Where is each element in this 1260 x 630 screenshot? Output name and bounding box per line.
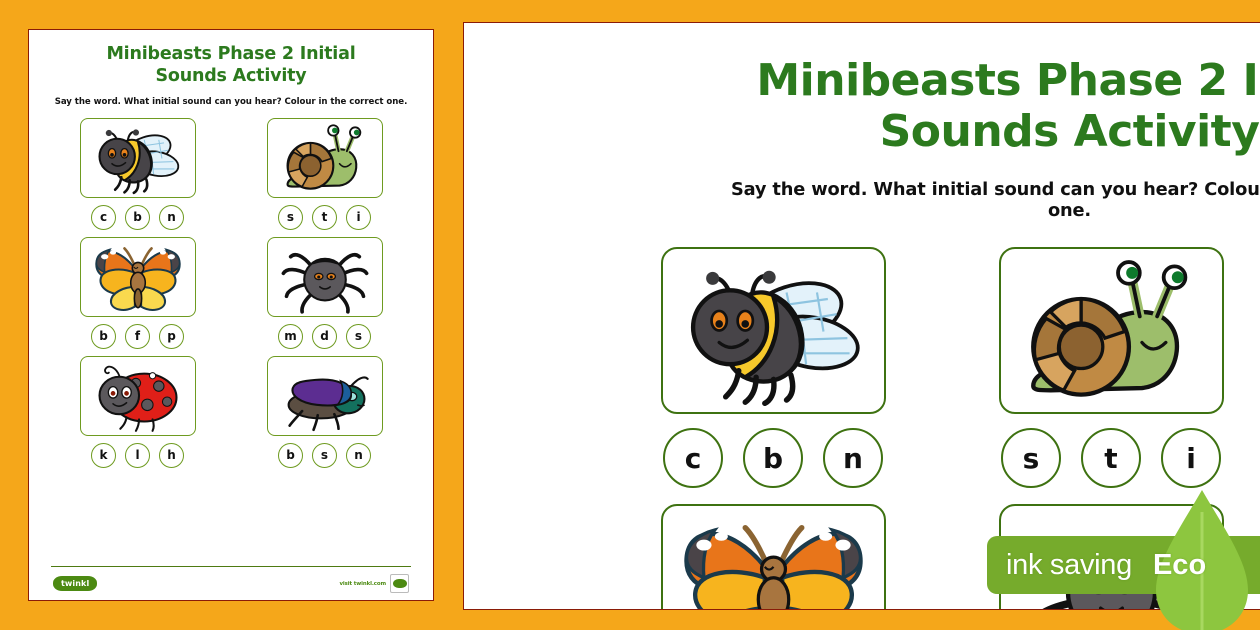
snail-icon: [1001, 249, 1222, 412]
snail-picture-box-large: [999, 247, 1224, 414]
letter-option[interactable]: l: [125, 443, 150, 468]
thumbnail-item-ladybird: k l h: [51, 356, 224, 468]
ink-saving-eco-badge[interactable]: ink saving Eco: [987, 536, 1260, 594]
letter-option[interactable]: c: [91, 205, 116, 230]
eco-badge-label: ink saving: [1006, 549, 1132, 582]
thumbnail-letters-bee: c b n: [91, 205, 184, 230]
thumbnail-title-line1: Minibeasts Phase 2 Initial: [51, 44, 411, 66]
letter-option[interactable]: h: [159, 443, 184, 468]
thumbnail-item-spider: m d s: [238, 237, 411, 349]
butterfly-picture-box: [80, 237, 196, 317]
main-letters-snail: s t i: [1001, 428, 1221, 488]
bee-icon: [663, 249, 884, 412]
main-instruction: Say the word. What initial sound can you…: [710, 179, 1260, 221]
letter-option[interactable]: s: [278, 205, 303, 230]
beetle-icon: [268, 357, 382, 435]
snail-icon: [268, 119, 382, 197]
spider-picture-box: [267, 237, 383, 317]
twinkl-leaf-icon: [390, 574, 409, 593]
letter-option[interactable]: i: [346, 205, 371, 230]
letter-option[interactable]: n: [159, 205, 184, 230]
thumbnail-item-snail: s t i: [238, 118, 411, 230]
butterfly-picture-box-large: [661, 504, 886, 610]
letter-option[interactable]: n: [346, 443, 371, 468]
letter-option[interactable]: s: [1001, 428, 1061, 488]
letter-option[interactable]: b: [91, 324, 116, 349]
thumbnail-item-butterfly: b f p: [51, 237, 224, 349]
letter-option[interactable]: s: [346, 324, 371, 349]
main-item-snail: s t i: [961, 247, 1260, 488]
visit-twinkl-group[interactable]: visit twinkl.com: [339, 574, 409, 593]
snail-picture-box: [267, 118, 383, 198]
letter-option[interactable]: c: [663, 428, 723, 488]
thumbnail-letters-snail: s t i: [278, 205, 371, 230]
main-title-line2: Sounds Activity: [732, 106, 1260, 157]
beetle-picture-box: [267, 356, 383, 436]
butterfly-icon: [663, 506, 884, 610]
twinkl-logo[interactable]: twinkl: [53, 576, 97, 591]
main-item-bee: c b n: [623, 247, 923, 488]
letter-option[interactable]: b: [125, 205, 150, 230]
thumbnail-letters-ladybird: k l h: [91, 443, 184, 468]
spider-icon: [268, 238, 382, 316]
thumbnail-footer: twinkl visit twinkl.com: [51, 566, 411, 600]
thumbnail-item-bee: c b n: [51, 118, 224, 230]
letter-option[interactable]: s: [312, 443, 337, 468]
thumbnail-letters-butterfly: b f p: [91, 324, 184, 349]
letter-option[interactable]: n: [823, 428, 883, 488]
letter-option[interactable]: t: [1081, 428, 1141, 488]
thumbnail-title-line2: Sounds Activity: [51, 66, 411, 88]
worksheet-thumbnail-page[interactable]: Minibeasts Phase 2 Initial Sounds Activi…: [28, 29, 434, 601]
letter-option[interactable]: p: [159, 324, 184, 349]
thumbnail-activity-grid: c b n: [51, 118, 411, 468]
letter-option[interactable]: b: [743, 428, 803, 488]
bee-icon: [81, 119, 195, 197]
letter-option[interactable]: i: [1161, 428, 1221, 488]
main-letters-bee: c b n: [663, 428, 883, 488]
visit-twinkl-text: visit twinkl.com: [339, 581, 386, 587]
thumbnail-letters-beetle: b s n: [278, 443, 371, 468]
letter-option[interactable]: m: [278, 324, 303, 349]
ladybird-picture-box: [80, 356, 196, 436]
eco-badge-word: Eco: [1153, 549, 1206, 582]
letter-option[interactable]: f: [125, 324, 150, 349]
thumbnail-letters-spider: m d s: [278, 324, 371, 349]
letter-option[interactable]: k: [91, 443, 116, 468]
main-title: Minibeasts Phase 2 Initial Sounds Activi…: [510, 55, 1260, 157]
worksheet-main-page[interactable]: Minibeasts Phase 2 Initial Sounds Activi…: [463, 22, 1260, 610]
bee-picture-box: [80, 118, 196, 198]
main-item-butterfly: b f p: [623, 504, 923, 610]
thumbnail-title: Minibeasts Phase 2 Initial Sounds Activi…: [51, 44, 411, 88]
ladybird-icon: [81, 357, 195, 435]
butterfly-icon: [81, 238, 195, 316]
thumbnail-instruction: Say the word. What initial sound can you…: [51, 97, 411, 107]
thumbnail-item-beetle: b s n: [238, 356, 411, 468]
main-title-line1: Minibeasts Phase 2 Initial: [732, 55, 1260, 106]
bee-picture-box-large: [661, 247, 886, 414]
letter-option[interactable]: t: [312, 205, 337, 230]
letter-option[interactable]: d: [312, 324, 337, 349]
letter-option[interactable]: b: [278, 443, 303, 468]
